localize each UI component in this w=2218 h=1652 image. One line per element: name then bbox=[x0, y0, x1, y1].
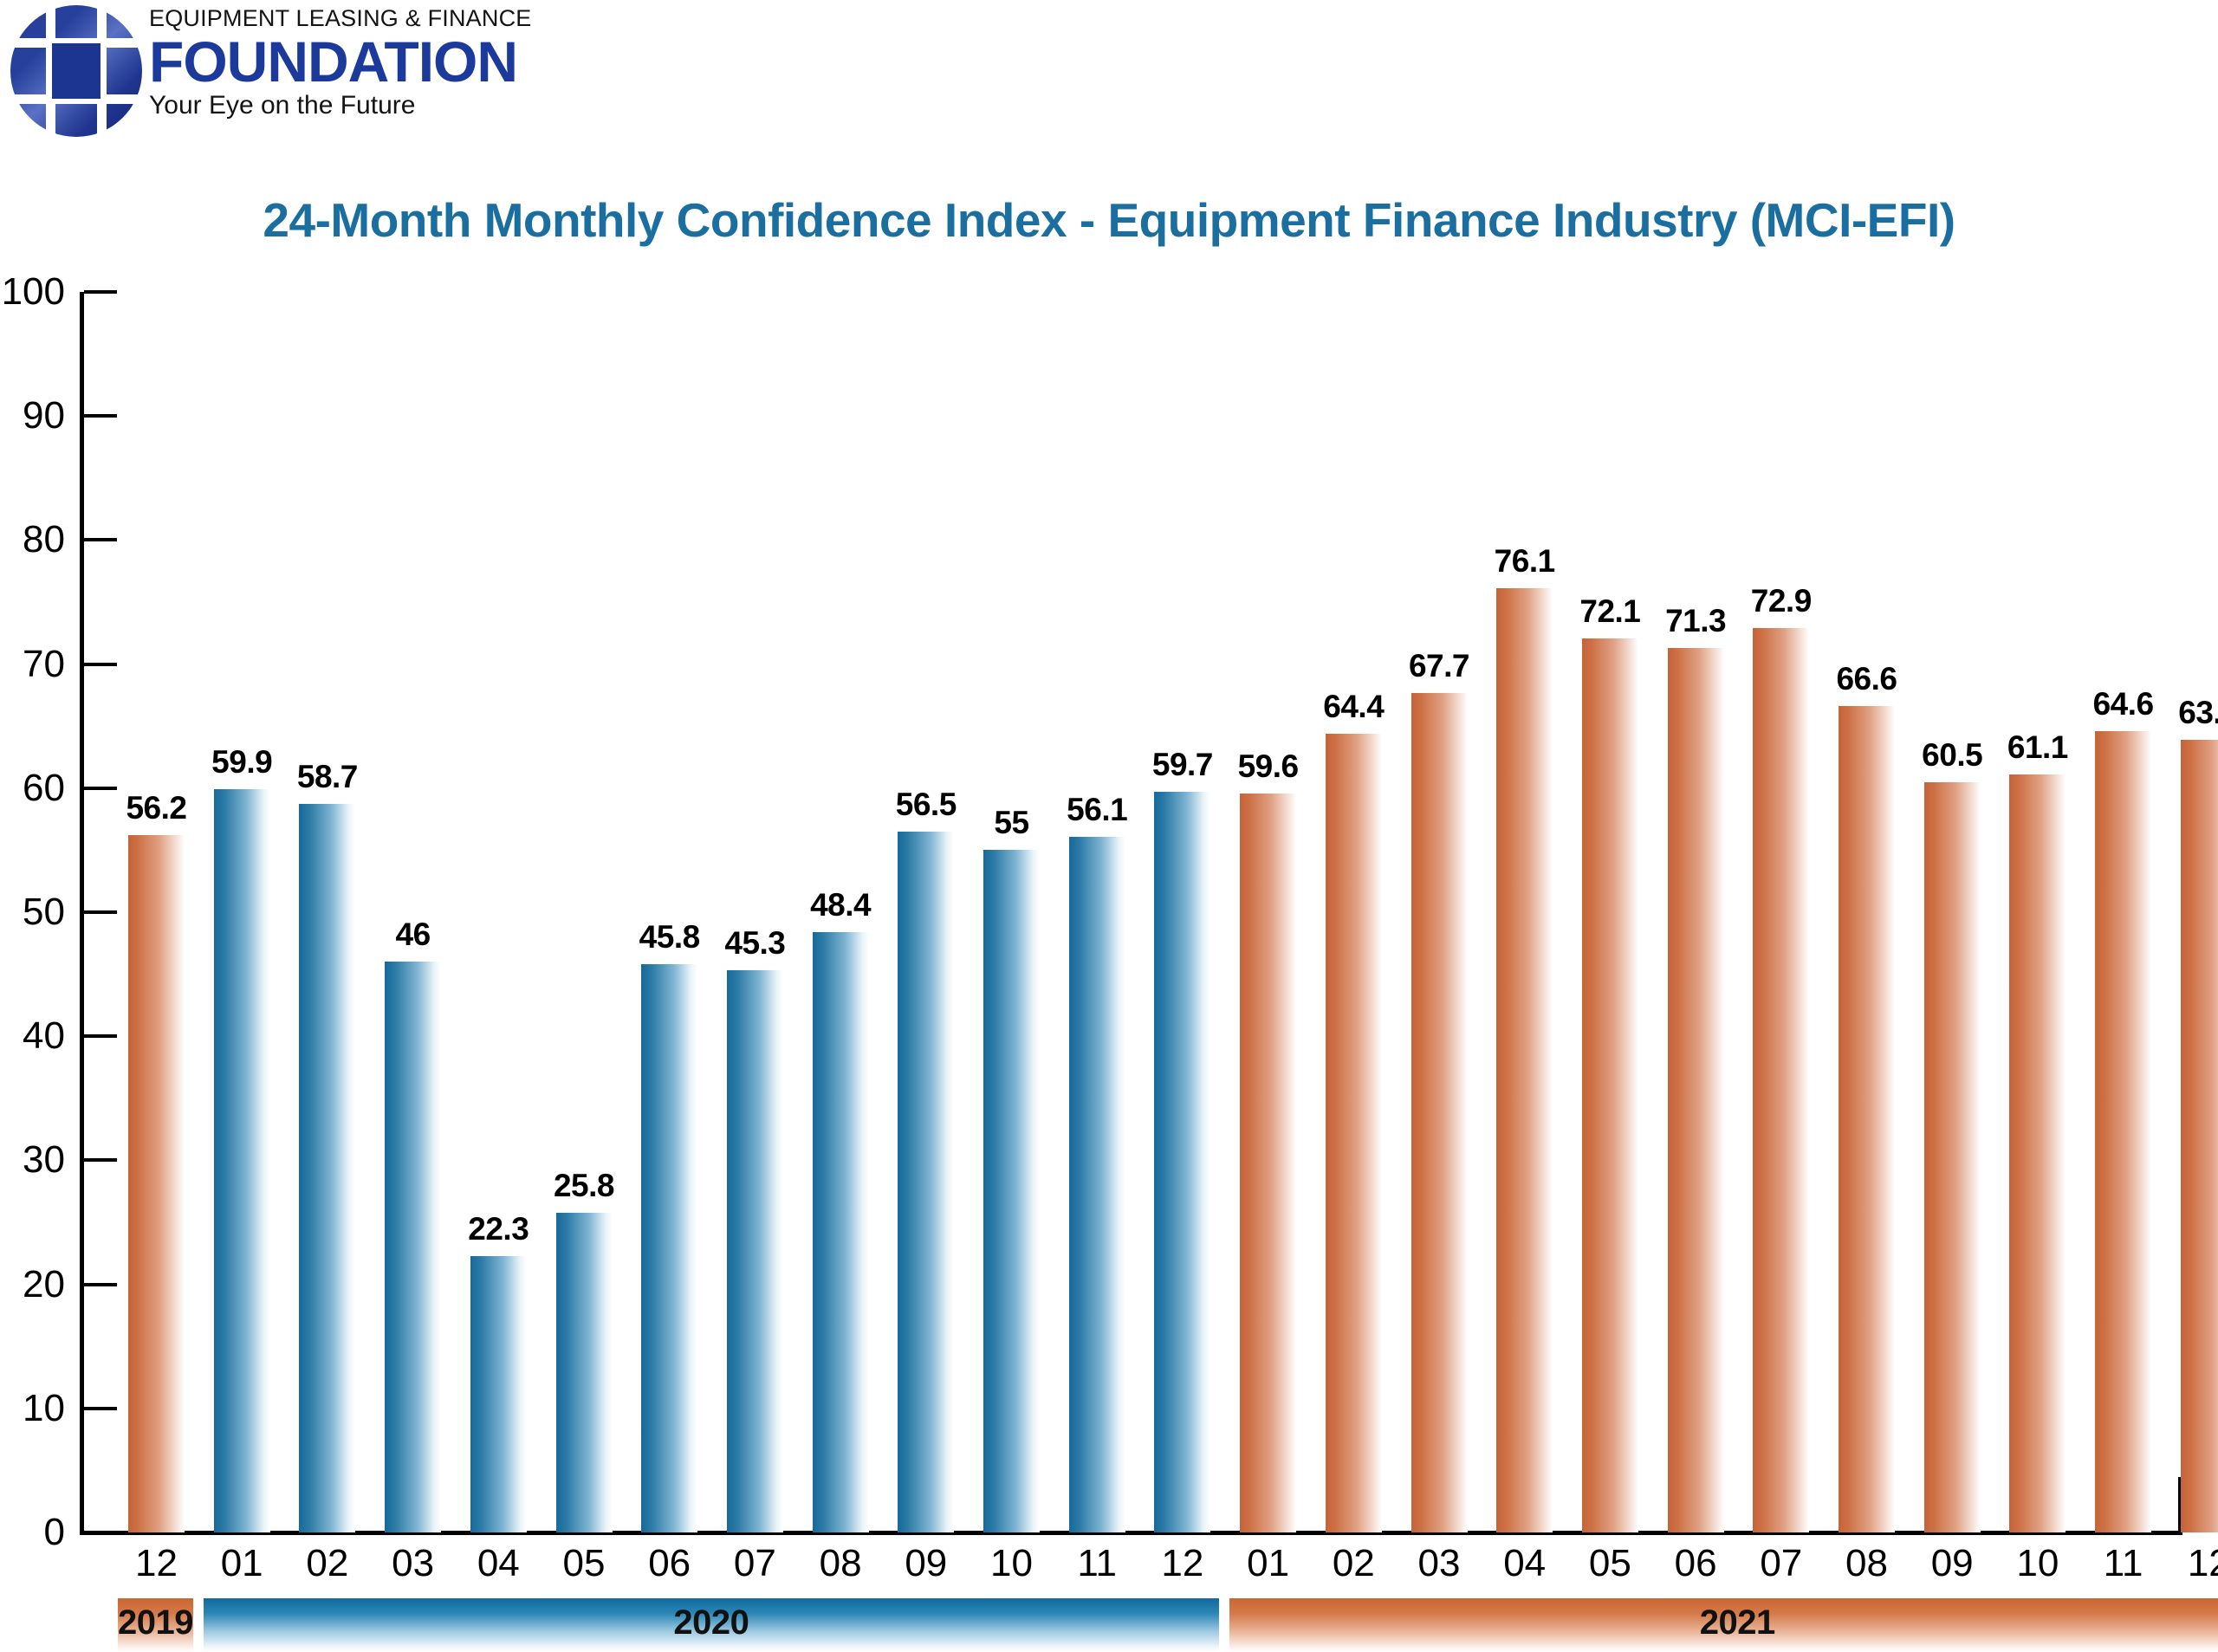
y-axis-tick-label: 90 bbox=[23, 394, 65, 437]
y-axis-tick bbox=[84, 663, 117, 666]
bar-value-label: 45.8 bbox=[624, 919, 715, 956]
x-axis-tick-label: 07 bbox=[710, 1542, 801, 1585]
bar-value-label: 58.7 bbox=[282, 759, 373, 795]
bar-value-label: 55 bbox=[966, 805, 1057, 841]
x-axis-tick-label: 05 bbox=[1565, 1542, 1656, 1585]
bar-value-label: 45.3 bbox=[710, 925, 801, 962]
x-axis-tick-label: 08 bbox=[1821, 1542, 1912, 1585]
bar-value-label: 48.4 bbox=[795, 887, 886, 923]
x-axis-tick-label: 01 bbox=[197, 1542, 288, 1585]
bar bbox=[898, 832, 954, 1532]
y-axis-tick bbox=[84, 1283, 117, 1286]
bar-value-label: 61.1 bbox=[1992, 729, 2083, 766]
x-axis-tick-label: 11 bbox=[2078, 1542, 2169, 1585]
bar-value-label: 22.3 bbox=[453, 1211, 544, 1247]
bar bbox=[983, 850, 1040, 1532]
y-axis-tick-label: 10 bbox=[23, 1387, 65, 1430]
bar bbox=[1326, 734, 1382, 1532]
bar-value-label: 76.1 bbox=[1479, 543, 1570, 580]
x-axis-tick-label: 07 bbox=[1735, 1542, 1826, 1585]
y-axis-tick-label: 100 bbox=[2, 270, 65, 314]
x-axis-tick-label: 03 bbox=[367, 1542, 458, 1585]
bar bbox=[1069, 837, 1125, 1532]
y-axis-tick-label: 40 bbox=[23, 1014, 65, 1058]
bar-value-label: 71.3 bbox=[1651, 603, 1741, 639]
bar-value-label: 66.6 bbox=[1821, 661, 1912, 697]
bar bbox=[1753, 628, 1809, 1532]
bar bbox=[1582, 638, 1638, 1532]
bar-value-label: 46 bbox=[367, 917, 458, 953]
y-axis-tick bbox=[84, 1407, 117, 1410]
bar-value-label: 64.6 bbox=[2078, 686, 2169, 722]
y-axis-tick-label: 60 bbox=[23, 767, 65, 810]
y-axis-tick-label: 50 bbox=[23, 891, 65, 934]
x-axis-tick-label: 09 bbox=[1907, 1542, 1998, 1585]
y-axis-tick bbox=[84, 1158, 117, 1162]
y-axis-tick bbox=[84, 1034, 117, 1038]
x-axis-tick-label: 11 bbox=[1052, 1542, 1143, 1585]
bar bbox=[128, 835, 185, 1532]
x-axis-tick-label: 01 bbox=[1222, 1542, 1313, 1585]
bar bbox=[214, 789, 270, 1532]
bar bbox=[1154, 792, 1210, 1532]
bar-value-label: 59.6 bbox=[1222, 748, 1313, 785]
y-axis-tick-label: 80 bbox=[23, 518, 65, 561]
bar bbox=[1240, 794, 1296, 1532]
x-axis-tick-label: 12 bbox=[2163, 1542, 2218, 1585]
x-axis-tick-label: 10 bbox=[966, 1542, 1057, 1585]
x-axis-tick-label: 08 bbox=[795, 1542, 886, 1585]
y-axis-tick-label: 70 bbox=[23, 643, 65, 686]
y-axis-tick bbox=[84, 414, 117, 418]
bar bbox=[2095, 731, 2151, 1532]
bar-value-label: 25.8 bbox=[539, 1168, 630, 1204]
x-axis-tick-label: 09 bbox=[880, 1542, 971, 1585]
year-band-label: 2021 bbox=[1229, 1603, 2218, 1642]
bar-value-label: 72.1 bbox=[1565, 593, 1656, 630]
y-axis-tick-label: 0 bbox=[44, 1511, 65, 1554]
bar bbox=[813, 932, 869, 1532]
bar-value-label: 56.5 bbox=[880, 787, 971, 823]
bar bbox=[2009, 774, 2066, 1532]
bar bbox=[1839, 706, 1895, 1532]
bar bbox=[385, 962, 441, 1532]
year-band-2021: 2021 bbox=[1229, 1598, 2218, 1652]
x-axis-tick-label: 10 bbox=[1992, 1542, 2083, 1585]
x-axis-tick-label: 04 bbox=[453, 1542, 544, 1585]
bar bbox=[556, 1213, 613, 1532]
bar bbox=[470, 1256, 527, 1532]
y-axis-tick bbox=[84, 538, 117, 541]
bar-value-label: 59.9 bbox=[197, 744, 288, 781]
bar-value-label: 59.7 bbox=[1137, 747, 1228, 783]
year-band-label: 2019 bbox=[118, 1603, 193, 1642]
bar bbox=[1496, 588, 1553, 1532]
x-axis-tick-label: 12 bbox=[1137, 1542, 1228, 1585]
x-axis-tick-label: 03 bbox=[1394, 1542, 1485, 1585]
bar bbox=[727, 970, 783, 1532]
x-axis-tick-label: 12 bbox=[111, 1542, 202, 1585]
bar bbox=[299, 804, 355, 1532]
year-band-label: 2020 bbox=[204, 1603, 1219, 1642]
x-axis-tick-label: 02 bbox=[1308, 1542, 1399, 1585]
y-axis-tick-label: 20 bbox=[23, 1263, 65, 1306]
y-axis-tick bbox=[84, 1531, 117, 1534]
year-band-2020: 2020 bbox=[204, 1598, 1219, 1652]
bar bbox=[1411, 693, 1468, 1532]
x-axis-tick-label: 04 bbox=[1479, 1542, 1570, 1585]
bar-value-label: 56.1 bbox=[1052, 792, 1143, 828]
y-axis-tick bbox=[84, 910, 117, 914]
year-band-2019: 2019 bbox=[118, 1598, 193, 1652]
bar-value-label: 64.4 bbox=[1308, 689, 1399, 725]
bar bbox=[1924, 782, 1981, 1532]
bar bbox=[641, 964, 697, 1532]
bar-value-label: 63.9 bbox=[2163, 695, 2218, 731]
bar bbox=[2181, 740, 2218, 1532]
x-axis-tick-label: 06 bbox=[624, 1542, 715, 1585]
x-axis-tick-label: 06 bbox=[1651, 1542, 1741, 1585]
bar-value-label: 60.5 bbox=[1907, 737, 1998, 774]
bar-value-label: 56.2 bbox=[111, 790, 202, 826]
bar-value-label: 72.9 bbox=[1735, 583, 1826, 619]
bar-value-label: 67.7 bbox=[1394, 648, 1485, 684]
y-axis-tick bbox=[84, 787, 117, 790]
x-axis-tick-label: 05 bbox=[539, 1542, 630, 1585]
bar bbox=[1668, 648, 1724, 1532]
y-axis-tick bbox=[84, 290, 117, 294]
bar-chart: 0102030405060708090100 56.259.958.74622.… bbox=[0, 0, 2218, 1652]
x-axis-tick-label: 02 bbox=[282, 1542, 373, 1585]
y-axis-tick-label: 30 bbox=[23, 1138, 65, 1182]
